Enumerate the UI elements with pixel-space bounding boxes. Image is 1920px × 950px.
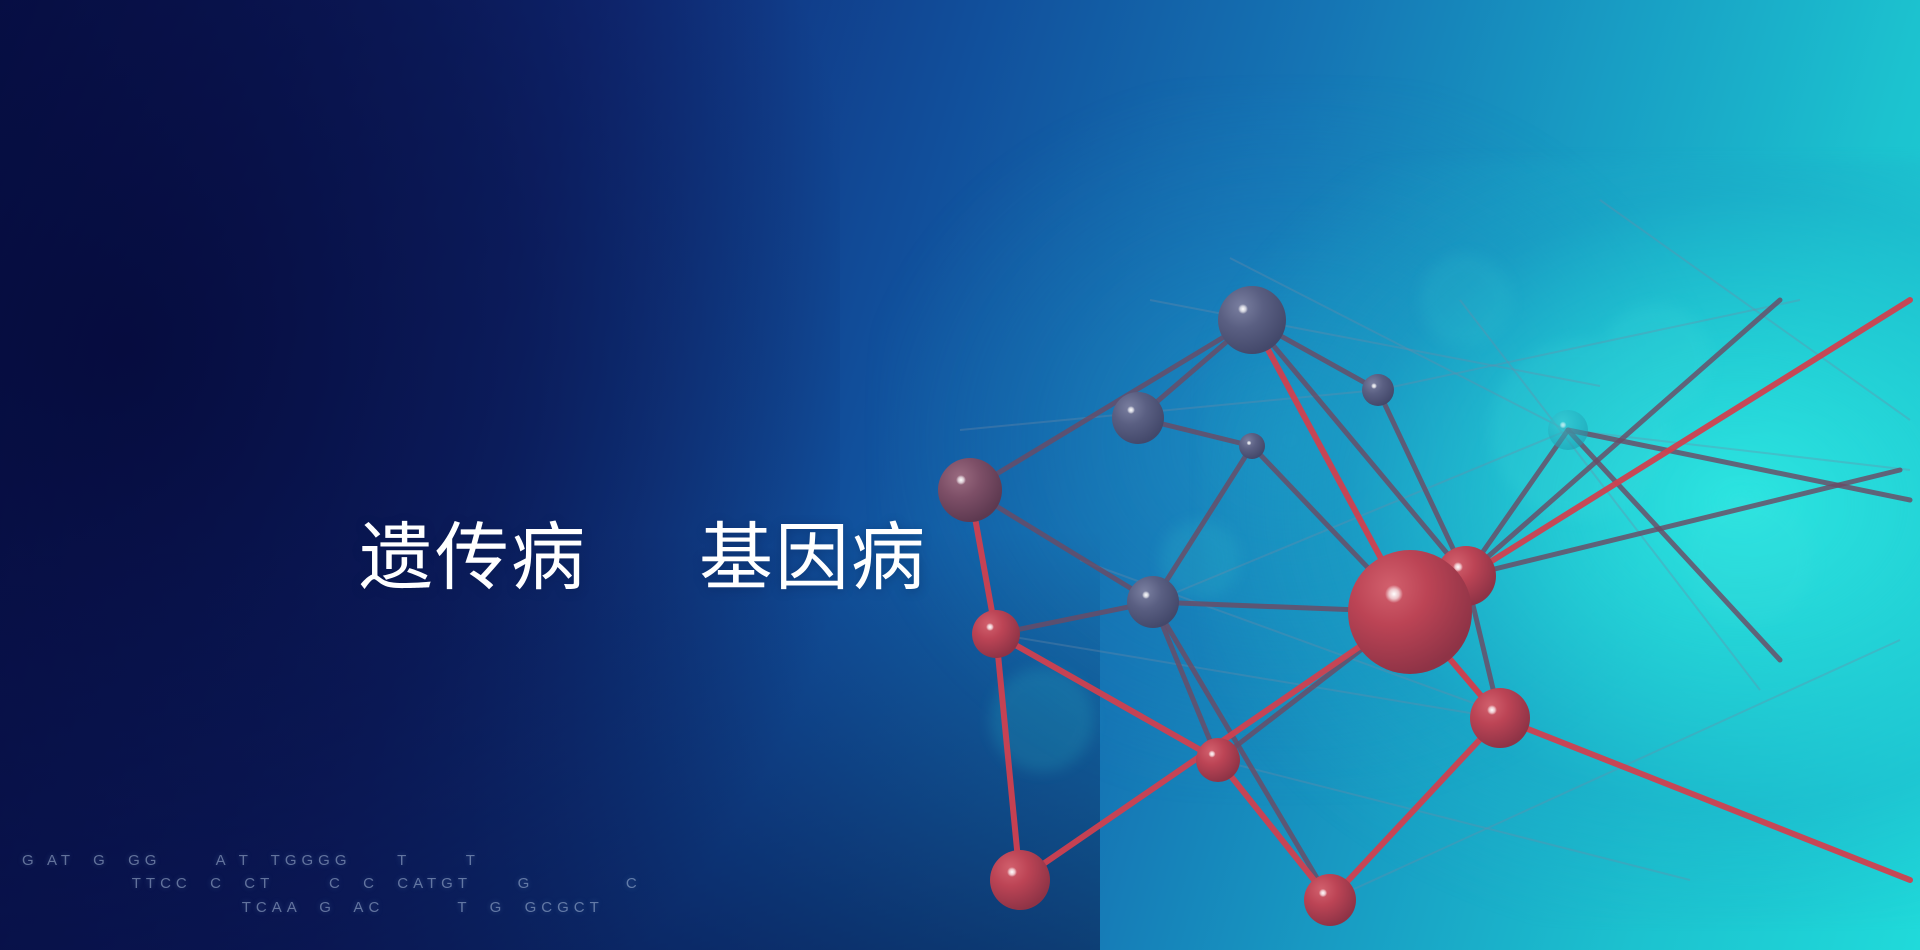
headline-line1-left: 遗传病	[359, 522, 587, 596]
dna-sequence-row-2: TTCC C CT C C CATGT G C	[22, 875, 642, 892]
background-turquoise-glow	[1200, 160, 1920, 920]
promo-banner: 遗传病基因病 查基因阻遗传 G AT G GG A T TGGGG T T TT…	[0, 0, 1920, 950]
headline-line-2: 查基因阻遗传	[236, 912, 927, 950]
dna-sequence-row-1: G AT G GG A T TGGGG T T	[22, 852, 480, 869]
dna-sequence-row-3: TCAA G AC T G GCGCT	[22, 899, 604, 916]
headline-line-1: 遗传病基因病	[236, 448, 927, 670]
headline-line1-right: 基因病	[699, 522, 927, 596]
